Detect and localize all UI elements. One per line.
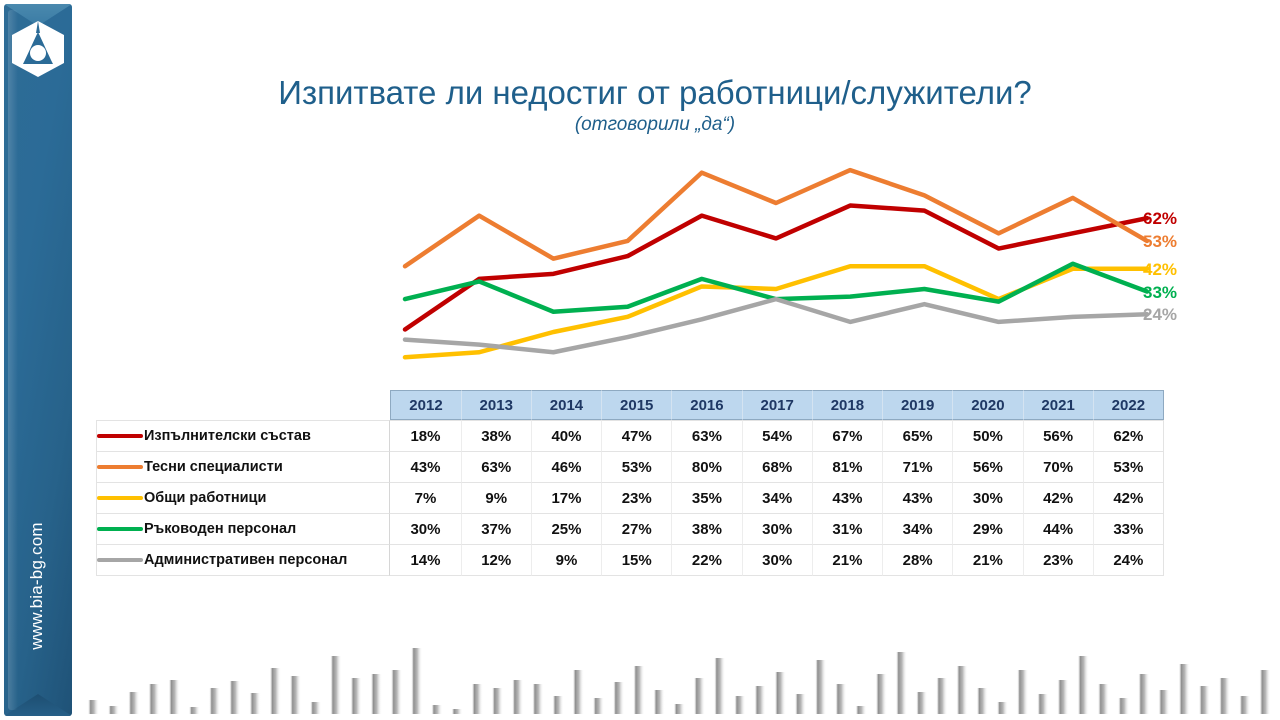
legend-swatch-icon	[97, 465, 143, 469]
chart-end-label: 24%	[1143, 305, 1177, 325]
table-corner-cell	[96, 390, 390, 420]
sidebar-highlight	[8, 10, 18, 710]
table-row: Административен персонал14%12%9%15%22%30…	[96, 545, 1164, 576]
skyline-decoration	[86, 648, 1280, 714]
table-cell: 33%	[1094, 514, 1164, 545]
table-year-header: 2018	[813, 390, 883, 420]
skyline-bar	[330, 656, 341, 714]
table-cell: 53%	[1094, 452, 1164, 483]
skyline-bar	[795, 694, 806, 714]
table-cell: 43%	[883, 483, 953, 514]
skyline-bar	[654, 690, 665, 714]
skyline-bar	[856, 706, 867, 714]
skyline-bar	[1159, 690, 1170, 714]
table-row: Ръководен персонал30%37%25%27%38%30%31%3…	[96, 514, 1164, 545]
table-cell: 15%	[602, 545, 672, 576]
table-cell: 65%	[883, 420, 953, 452]
table-cell: 42%	[1024, 483, 1094, 514]
skyline-bar	[694, 678, 705, 714]
skyline-bar	[1219, 678, 1230, 714]
table-cell: 31%	[813, 514, 883, 545]
table-cell: 14%	[390, 545, 461, 576]
table-year-header: 2016	[672, 390, 742, 420]
skyline-bar	[209, 688, 220, 714]
skyline-bar	[997, 702, 1008, 714]
skyline-bar	[411, 648, 422, 714]
table-cell: 47%	[602, 420, 672, 452]
skyline-bar	[775, 672, 786, 714]
chart-end-label: 42%	[1143, 260, 1177, 280]
chart-line	[405, 170, 1147, 266]
skyline-bar	[936, 678, 947, 714]
skyline-bar	[1179, 664, 1190, 714]
legend-label: Административен персонал	[144, 552, 347, 568]
table-cell: 17%	[532, 483, 602, 514]
table-cell: 44%	[1024, 514, 1094, 545]
table-cell: 7%	[390, 483, 461, 514]
table-cell: 38%	[672, 514, 742, 545]
table-cell: 18%	[390, 420, 461, 452]
skyline-bar	[532, 684, 543, 714]
table-cell: 50%	[953, 420, 1023, 452]
skyline-bar	[815, 660, 826, 714]
skyline-bar	[613, 682, 624, 714]
table-cell: 30%	[953, 483, 1023, 514]
table-cell: 38%	[462, 420, 532, 452]
table-cell: 22%	[672, 545, 742, 576]
table-cell: 9%	[532, 545, 602, 576]
skyline-bar	[916, 692, 927, 714]
skyline-bar	[957, 666, 968, 714]
skyline-bar	[835, 684, 846, 714]
skyline-bar	[896, 652, 907, 714]
table-cell: 67%	[813, 420, 883, 452]
table-cell: 53%	[602, 452, 672, 483]
table-cell: 23%	[1024, 545, 1094, 576]
chart-end-label: 62%	[1143, 209, 1177, 229]
skyline-bar	[472, 684, 483, 714]
table-cell: 25%	[532, 514, 602, 545]
skyline-bar	[452, 709, 463, 714]
table-cell: 70%	[1024, 452, 1094, 483]
skyline-bar	[189, 707, 200, 714]
chart-end-label: 33%	[1143, 283, 1177, 303]
skyline-bar	[1260, 670, 1271, 714]
skyline-bar	[492, 688, 503, 714]
skyline-bar	[128, 692, 139, 714]
table-cell: 56%	[953, 452, 1023, 483]
table-year-header: 2013	[462, 390, 532, 420]
skyline-bar	[977, 688, 988, 714]
table-cell: 34%	[743, 483, 813, 514]
legend-label: Изпълнителски състав	[144, 428, 311, 444]
table-cell: 42%	[1094, 483, 1164, 514]
table-cell: 43%	[390, 452, 461, 483]
table-row-label-cell: Административен персонал	[96, 545, 390, 576]
table-cell: 62%	[1094, 420, 1164, 452]
sidebar-website-url[interactable]: www.bia-bg.com	[23, 471, 51, 701]
table-cell: 9%	[462, 483, 532, 514]
table-cell: 43%	[813, 483, 883, 514]
skyline-bar	[1058, 680, 1069, 714]
skyline-bar	[88, 700, 99, 714]
skyline-bar	[149, 684, 160, 714]
legend-label: Тесни специалисти	[144, 459, 283, 475]
legend-swatch-icon	[97, 558, 143, 562]
skyline-bar	[310, 702, 321, 714]
table-row: Тесни специалисти43%63%46%53%80%68%81%71…	[96, 452, 1164, 483]
skyline-bar	[431, 705, 442, 714]
table-row: Изпълнителски състав18%38%40%47%63%54%67…	[96, 420, 1164, 452]
skyline-bar	[714, 658, 725, 714]
table-cell: 29%	[953, 514, 1023, 545]
table-cell: 81%	[813, 452, 883, 483]
table-cell: 30%	[743, 545, 813, 576]
table-year-header: 2012	[390, 390, 461, 420]
legend-swatch-icon	[97, 527, 143, 531]
table-cell: 23%	[602, 483, 672, 514]
skyline-bar	[553, 696, 564, 714]
table-row-label-cell: Общи работници	[96, 483, 390, 514]
table-cell: 35%	[672, 483, 742, 514]
table-cell: 37%	[462, 514, 532, 545]
skyline-bar	[169, 680, 180, 714]
table-cell: 63%	[462, 452, 532, 483]
skyline-bar	[573, 670, 584, 714]
skyline-bar	[1017, 670, 1028, 714]
skyline-bar	[1199, 686, 1210, 714]
table-row-label-cell: Ръководен персонал	[96, 514, 390, 545]
table-cell: 30%	[390, 514, 461, 545]
table-cell: 68%	[743, 452, 813, 483]
table-cell: 12%	[462, 545, 532, 576]
legend-swatch-icon	[97, 434, 143, 438]
table-body: Изпълнителски състав18%38%40%47%63%54%67…	[96, 420, 1164, 576]
chart-end-label: 53%	[1143, 232, 1177, 252]
table-year-header: 2019	[883, 390, 953, 420]
skyline-bar	[1138, 674, 1149, 714]
legend-label: Ръководен персонал	[144, 521, 296, 537]
skyline-bar	[290, 676, 301, 714]
table-row-label-cell: Тесни специалисти	[96, 452, 390, 483]
skyline-bar	[371, 674, 382, 714]
table-cell: 54%	[743, 420, 813, 452]
legend-label: Общи работници	[144, 490, 266, 506]
skyline-bar	[512, 680, 523, 714]
skyline-bar	[270, 668, 281, 714]
skyline-bar	[755, 686, 766, 714]
skyline-bar	[876, 674, 887, 714]
left-sidebar: www.bia-bg.com	[0, 0, 80, 720]
skyline-bar	[1037, 694, 1048, 714]
table-year-header: 2022	[1094, 390, 1164, 420]
chart-line	[405, 266, 1147, 357]
table-cell: 34%	[883, 514, 953, 545]
table-cell: 71%	[883, 452, 953, 483]
table-row-label-cell: Изпълнителски състав	[96, 420, 390, 452]
table-year-header: 2015	[602, 390, 672, 420]
skyline-bar	[391, 670, 402, 714]
table-cell: 80%	[672, 452, 742, 483]
skyline-bar	[351, 678, 362, 714]
table-cell: 27%	[602, 514, 672, 545]
page-subtitle: (отговорили „да“)	[150, 114, 1160, 136]
skyline-bar	[633, 666, 644, 714]
skyline-bar	[108, 706, 119, 714]
skyline-bar	[593, 698, 604, 714]
table-cell: 30%	[743, 514, 813, 545]
legend-swatch-icon	[97, 496, 143, 500]
table-cell: 40%	[532, 420, 602, 452]
skyline-bar	[1078, 656, 1089, 714]
skyline-bar	[734, 696, 745, 714]
table-cell: 46%	[532, 452, 602, 483]
skyline-bar	[674, 704, 685, 714]
table-cell: 63%	[672, 420, 742, 452]
table-cell: 56%	[1024, 420, 1094, 452]
table-cell: 21%	[813, 545, 883, 576]
skyline-bar	[1239, 696, 1250, 714]
skyline-bar	[1098, 684, 1109, 714]
line-chart	[405, 160, 1165, 375]
table-row: Общи работници7%9%17%23%35%34%43%43%30%4…	[96, 483, 1164, 514]
skyline-bar	[1118, 698, 1129, 714]
table-cell: 21%	[953, 545, 1023, 576]
skyline-bar	[229, 681, 240, 714]
table-year-header: 2017	[743, 390, 813, 420]
chart-end-labels: 62%53%42%33%24%	[1143, 205, 1213, 345]
table-cell: 24%	[1094, 545, 1164, 576]
table-year-header: 2014	[532, 390, 602, 420]
skyline-bar	[250, 693, 261, 714]
table-year-header: 2020	[953, 390, 1023, 420]
table-year-header: 2021	[1024, 390, 1094, 420]
chart-line	[405, 206, 1147, 330]
table-cell: 28%	[883, 545, 953, 576]
bia-hexagon-logo	[10, 20, 66, 78]
data-table: 2012201320142015201620172018201920202021…	[96, 390, 1164, 576]
page-title: Изпитвате ли недостиг от работници/служи…	[150, 74, 1160, 112]
table-header-row: 2012201320142015201620172018201920202021…	[96, 390, 1164, 420]
